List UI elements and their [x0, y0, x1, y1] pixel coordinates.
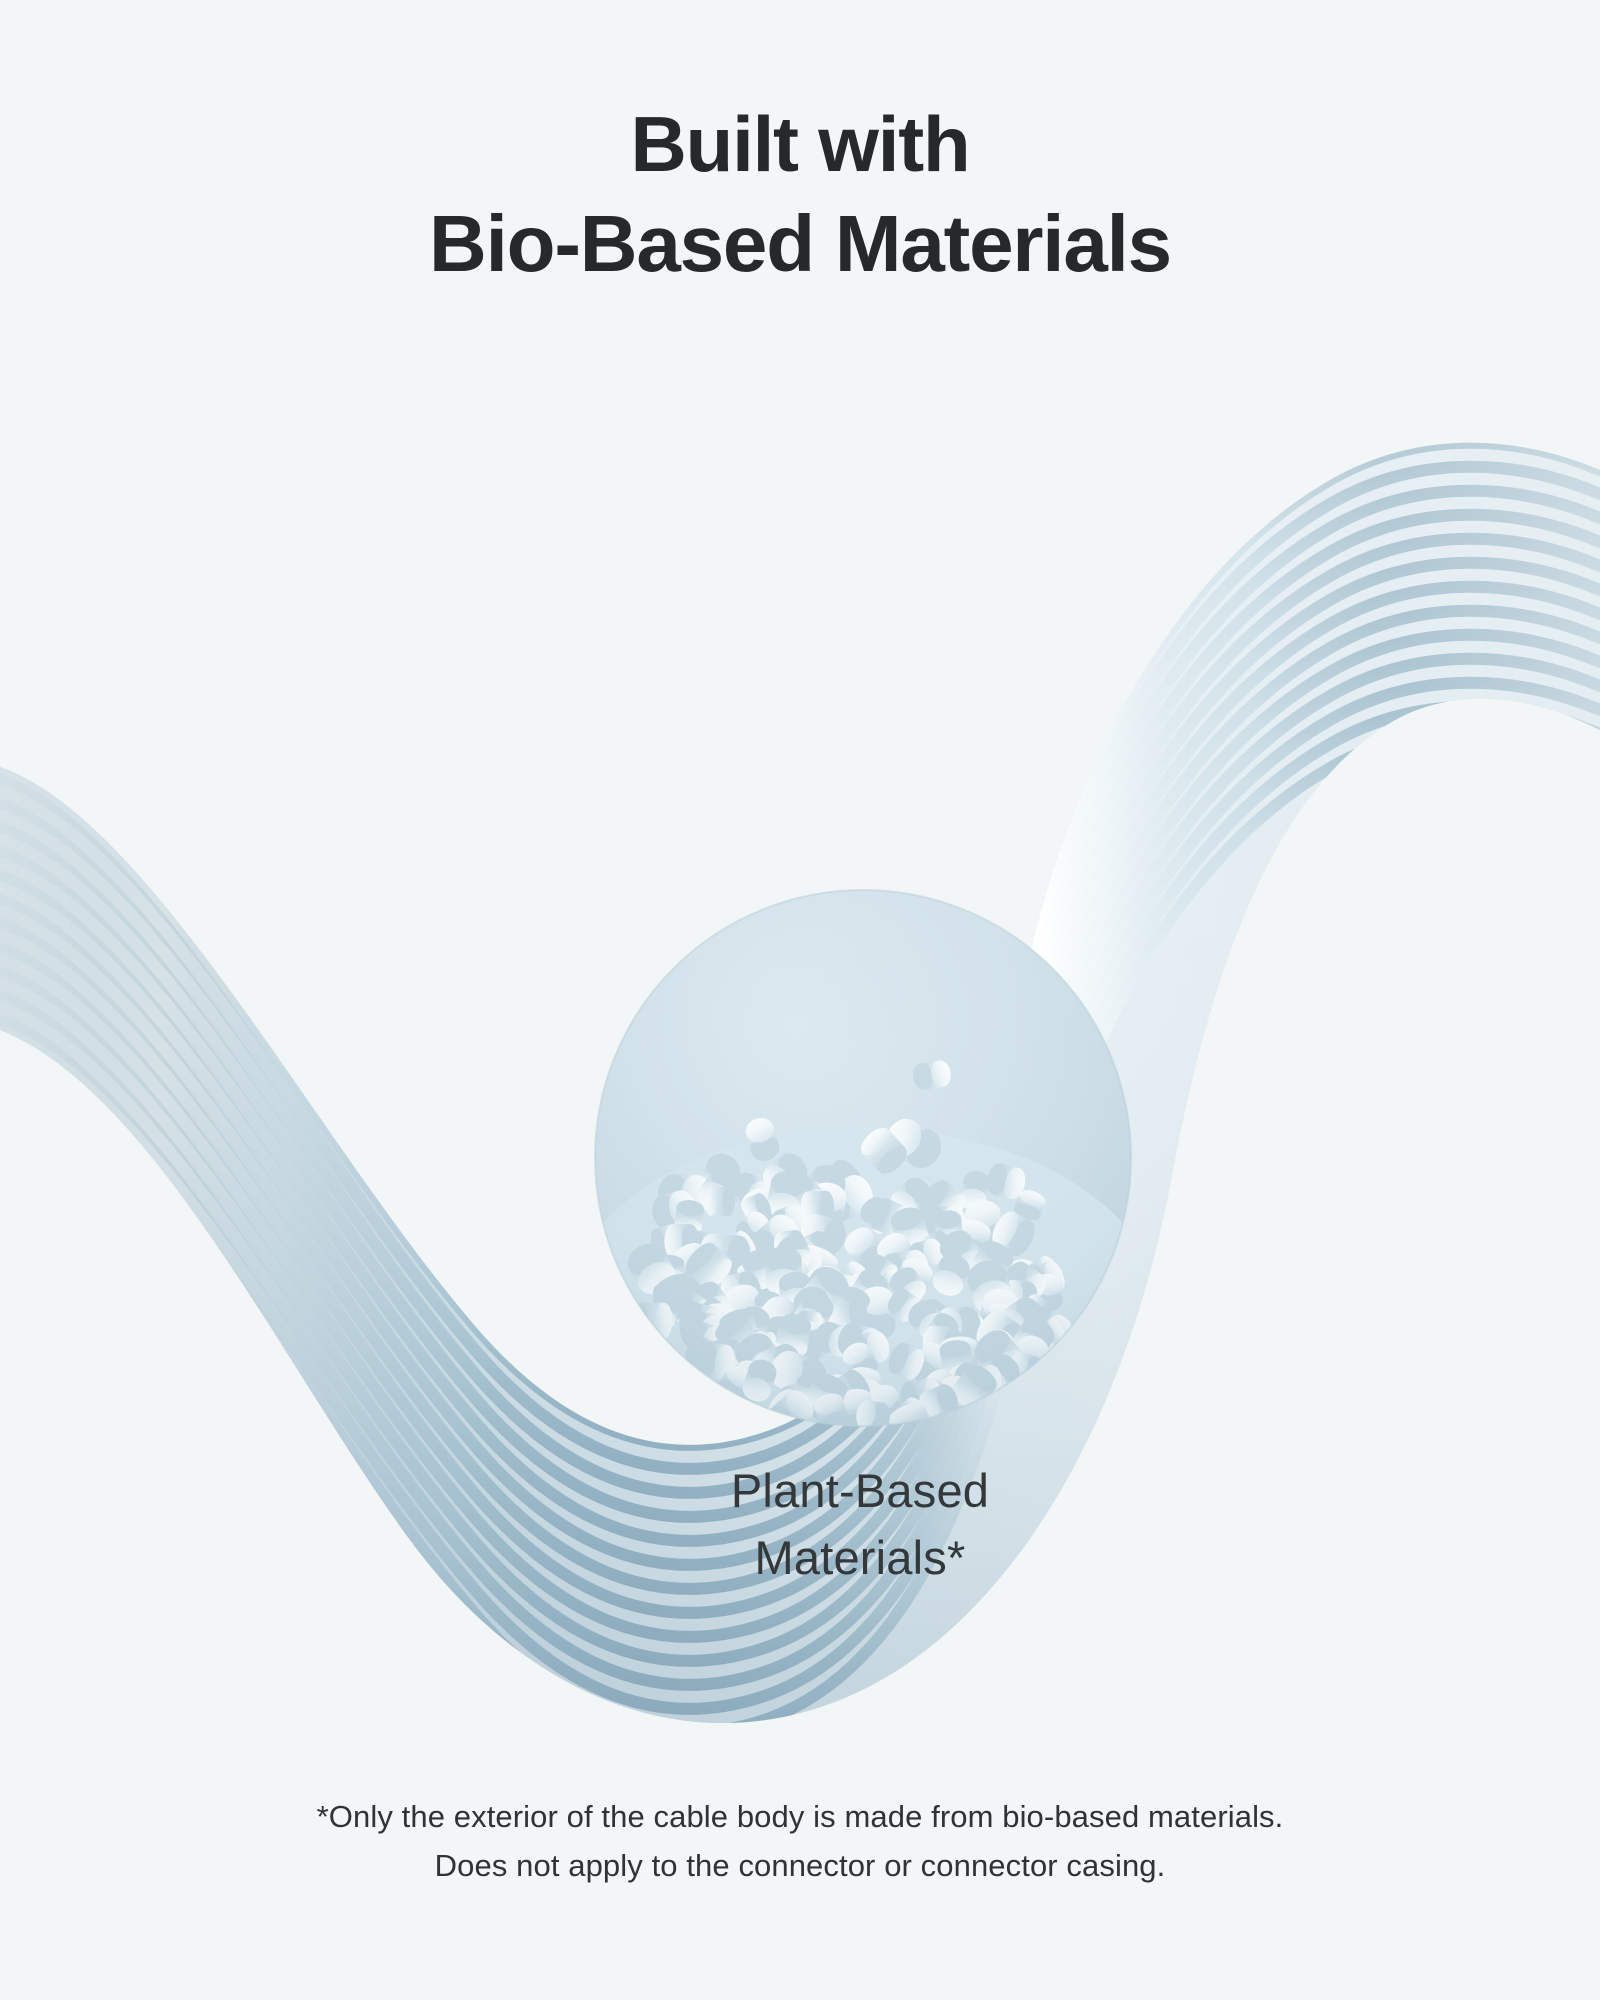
pellet-caption: Plant-Based Materials* — [560, 1458, 1160, 1591]
plant-based-pellet-closeup — [593, 888, 1133, 1428]
footnote-line-2: Does not apply to the connector or conne… — [0, 1842, 1600, 1891]
headline-line-2: Bio-Based Materials — [0, 194, 1600, 294]
footnote-line-1: *Only the exterior of the cable body is … — [0, 1793, 1600, 1842]
caption-line-2: Materials* — [560, 1525, 1160, 1592]
headline-line-1: Built with — [0, 96, 1600, 194]
cable-edge-fade-left — [0, 380, 200, 1800]
cable-edge-fade-right — [1380, 380, 1600, 1800]
footnote: *Only the exterior of the cable body is … — [0, 1793, 1600, 1891]
product-feature-page: Built with Bio-Based Materials — [0, 0, 1600, 2000]
caption-line-1: Plant-Based — [560, 1458, 1160, 1525]
page-title: Built with Bio-Based Materials — [0, 96, 1600, 294]
